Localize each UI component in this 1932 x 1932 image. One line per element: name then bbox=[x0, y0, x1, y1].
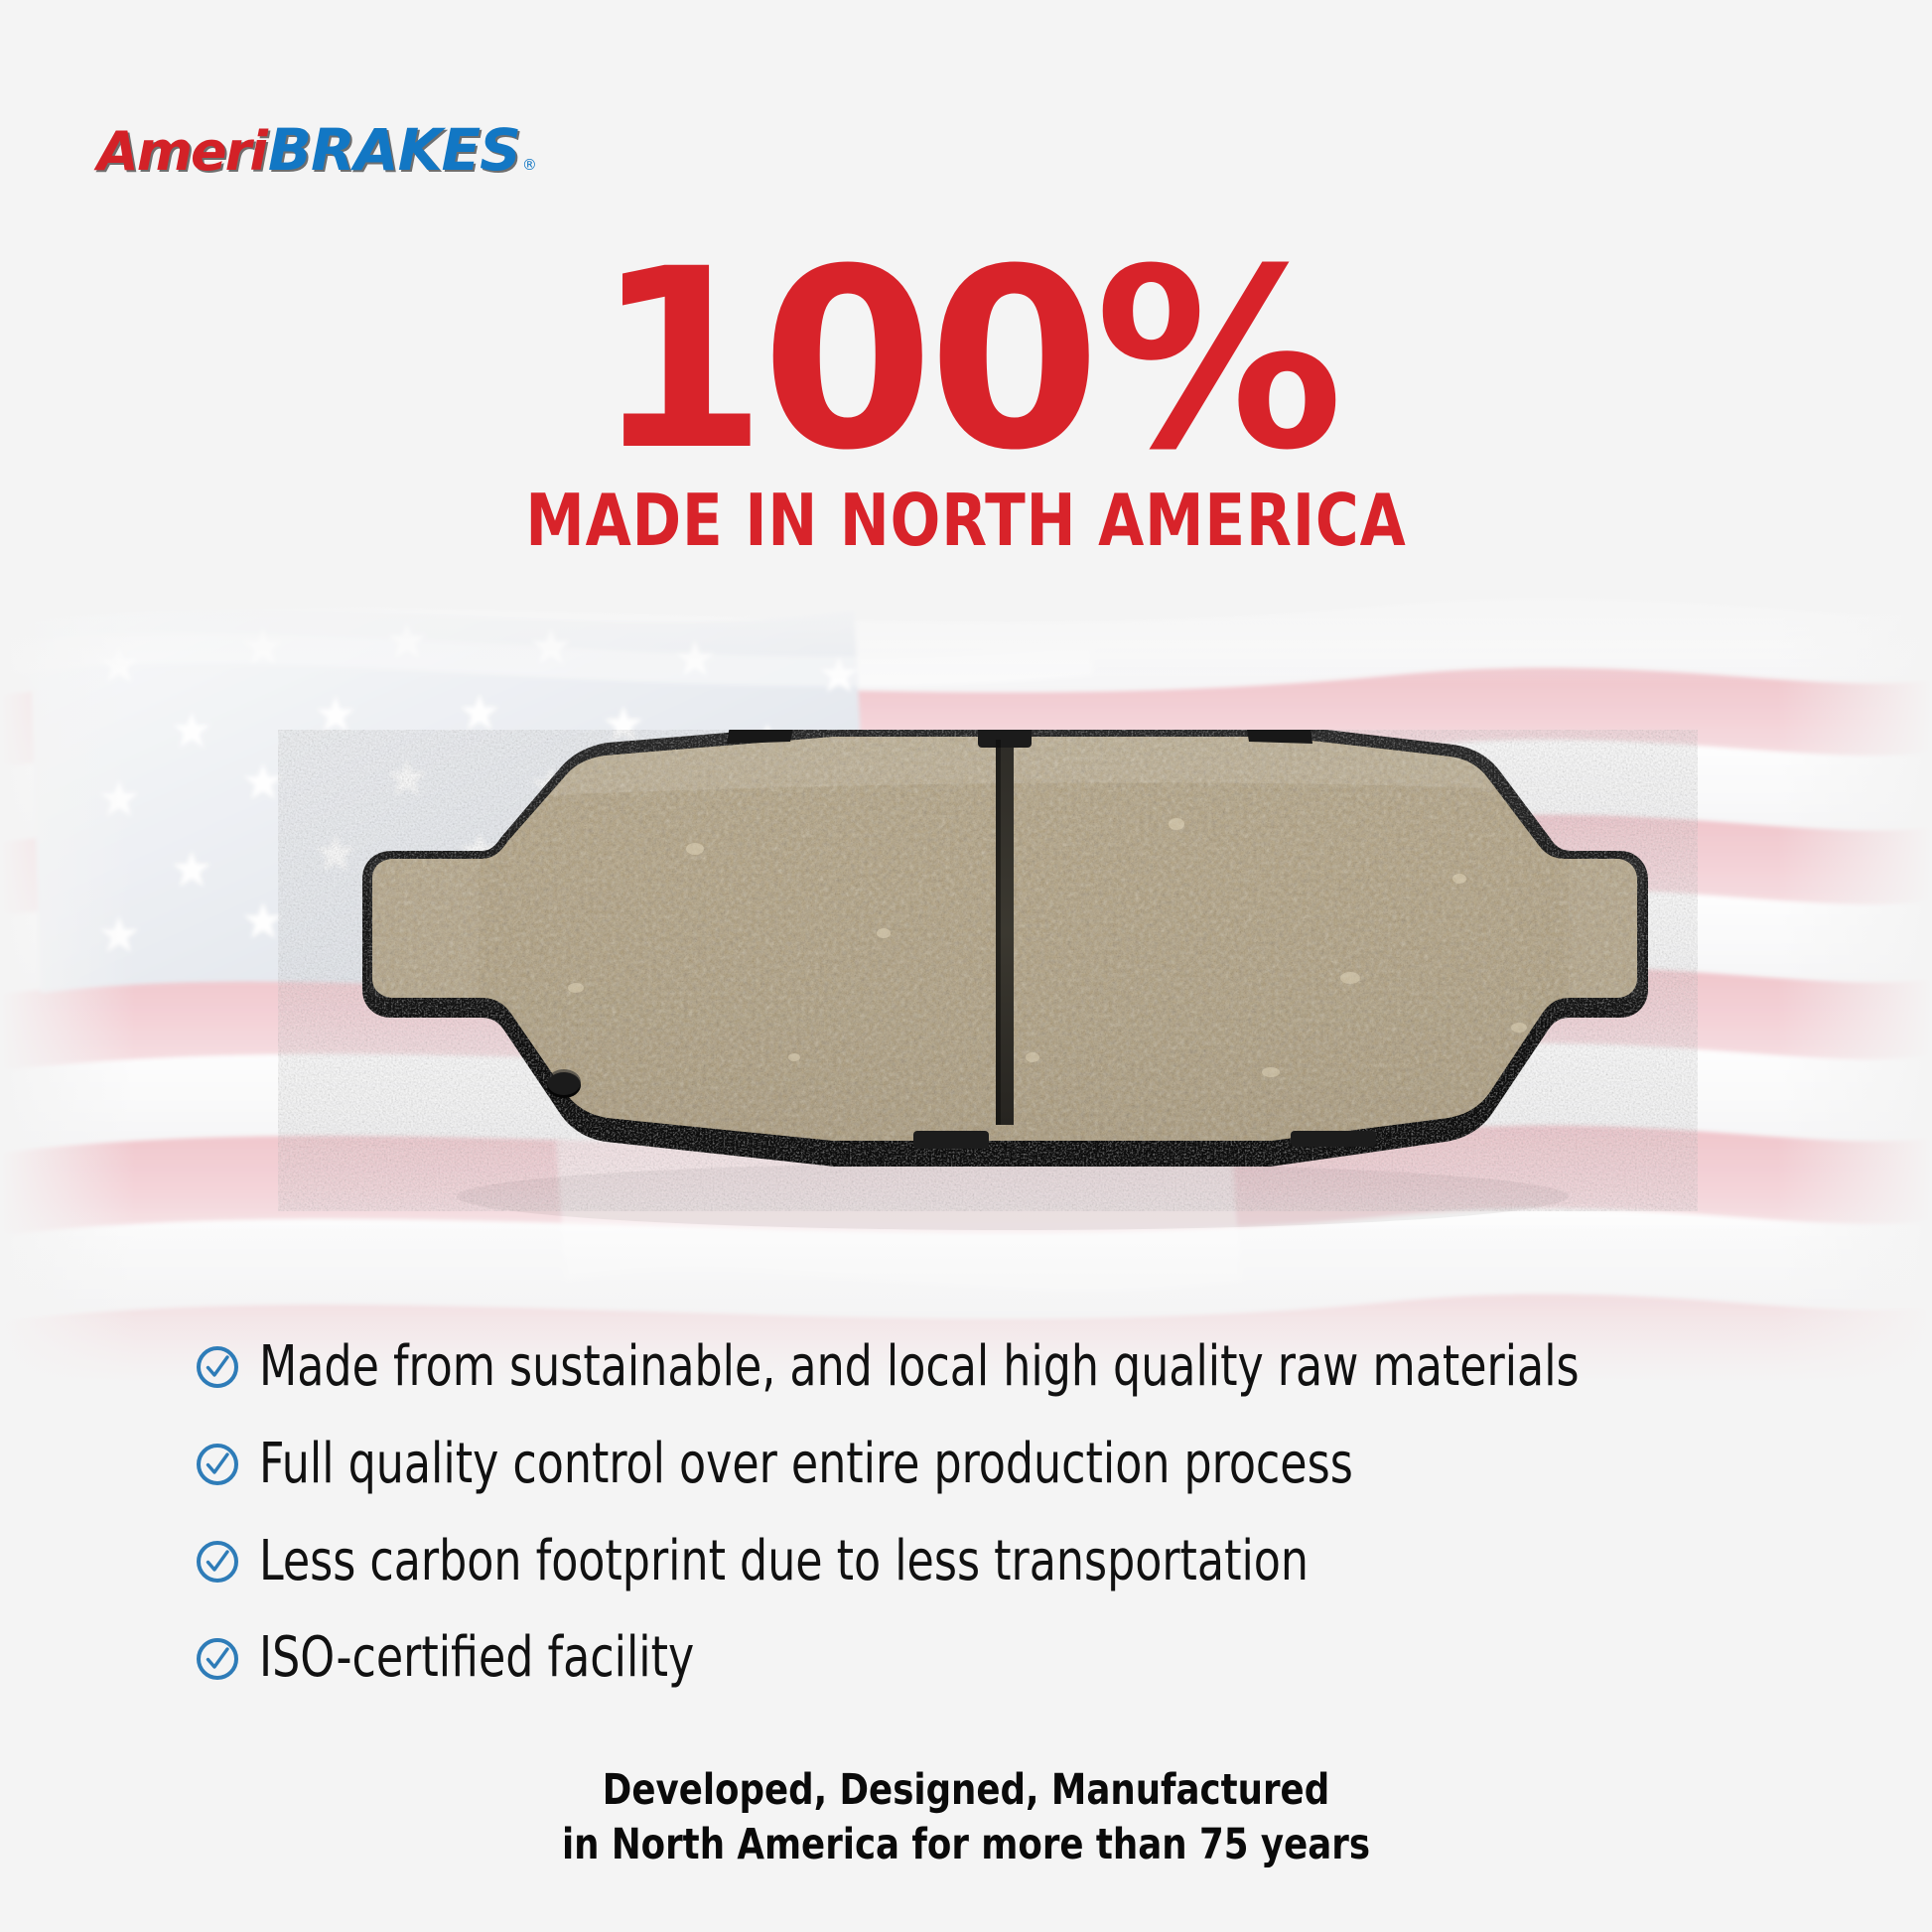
footer-block: Developed, Designed, Manufactured in Nor… bbox=[0, 1763, 1932, 1872]
list-item: Made from sustainable, and local high qu… bbox=[195, 1338, 1783, 1397]
product-marketing-banner: Ameri BRAKES ® 100% MADE IN NORTH AMERIC… bbox=[0, 0, 1932, 1932]
check-circle-glyph bbox=[195, 1539, 240, 1585]
headline-percent: 100% bbox=[0, 246, 1932, 475]
list-item: Less carbon footprint due to less transp… bbox=[195, 1533, 1783, 1591]
brand-logo[interactable]: Ameri BRAKES ® bbox=[97, 121, 537, 179]
brake-pad-graphic bbox=[278, 730, 1698, 1256]
check-circle-glyph bbox=[195, 1442, 240, 1487]
list-item: ISO-certified facility bbox=[195, 1629, 1783, 1688]
check-circle-icon bbox=[195, 1636, 240, 1682]
check-circle-icon bbox=[195, 1344, 240, 1390]
registered-trademark-icon: ® bbox=[522, 158, 537, 173]
feature-label: ISO-certified facility bbox=[259, 1629, 694, 1688]
headline-subtitle: MADE IN NORTH AMERICA bbox=[77, 484, 1855, 556]
footer-line-2: in North America for more than 75 years bbox=[77, 1818, 1855, 1872]
check-circle-glyph bbox=[195, 1636, 240, 1682]
footer-line-1: Developed, Designed, Manufactured bbox=[77, 1763, 1855, 1818]
check-circle-icon bbox=[195, 1442, 240, 1487]
list-item: Full quality control over entire product… bbox=[195, 1436, 1783, 1494]
feature-label: Less carbon footprint due to less transp… bbox=[259, 1533, 1309, 1591]
brake-pad-product-image bbox=[278, 730, 1698, 1256]
feature-list: Made from sustainable, and local high qu… bbox=[195, 1338, 1783, 1726]
feature-label: Full quality control over entire product… bbox=[259, 1436, 1353, 1494]
check-circle-icon bbox=[195, 1539, 240, 1585]
headline-block: 100% MADE IN NORTH AMERICA bbox=[0, 246, 1932, 556]
logo-text-brakes: BRAKES bbox=[268, 121, 520, 179]
mounting-hole bbox=[547, 1069, 581, 1098]
logo-text-ameri: Ameri bbox=[97, 125, 266, 179]
check-circle-glyph bbox=[195, 1344, 240, 1390]
feature-label: Made from sustainable, and local high qu… bbox=[259, 1338, 1580, 1397]
